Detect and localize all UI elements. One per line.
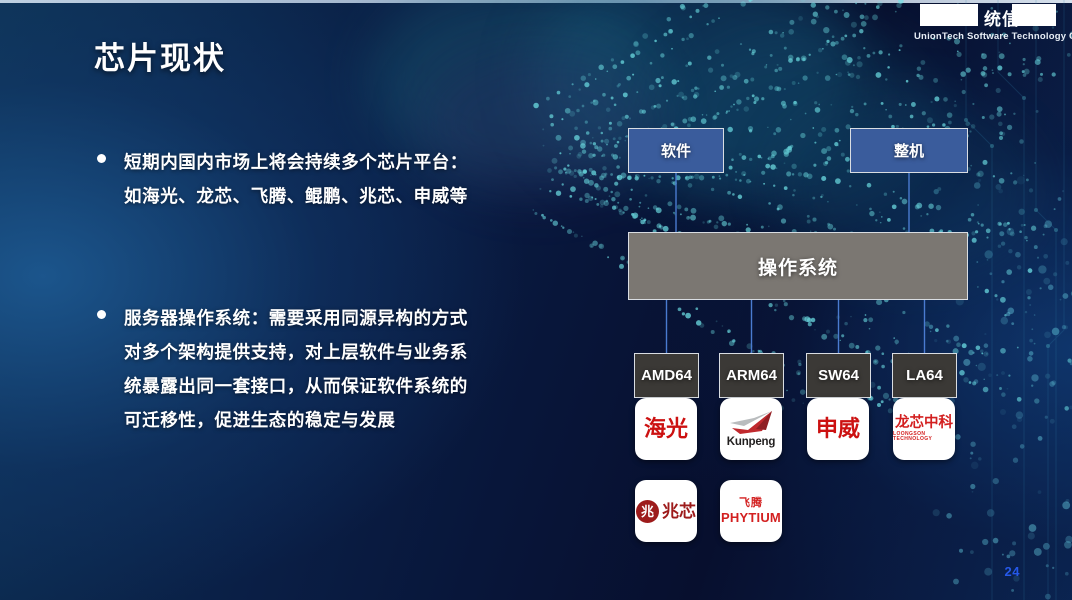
- node-arch-la64[interactable]: LA64: [892, 353, 957, 398]
- node-label: SW64: [818, 367, 859, 384]
- node-label: ARM64: [726, 367, 777, 384]
- vendor-logo-text: Kunpeng: [727, 437, 775, 449]
- vendor-logo-subtext: PHYTIUM: [721, 511, 781, 524]
- brand-name-en: UnionTech Software Technology Co: [914, 31, 1072, 42]
- bullet-dot-icon: [97, 310, 106, 319]
- list-item: 短期内国内市场上将会持续多个芯片平台： 如海光、龙芯、飞腾、鲲鹏、兆芯、申威等: [94, 145, 564, 213]
- node-software[interactable]: 软件: [628, 128, 724, 173]
- node-label: AMD64: [641, 367, 692, 384]
- vendor-logo-sunway[interactable]: 申威: [807, 398, 869, 460]
- node-operating-system[interactable]: 操作系统: [628, 232, 968, 300]
- page-title: 芯片现状: [94, 33, 226, 78]
- vendor-logo-phytium[interactable]: 飞腾 PHYTIUM: [720, 480, 782, 542]
- bullet-dot-icon: [97, 154, 106, 163]
- vendor-logo-text: 兆芯: [662, 503, 696, 520]
- vendor-logo-text: 飞腾: [739, 498, 763, 509]
- vendor-logo-zhaoxin[interactable]: 兆 兆芯: [635, 480, 697, 542]
- architecture-diagram: 软件 整机 操作系统 AMD64 ARM64 SW64 LA64 海光: [628, 128, 968, 548]
- vendor-logo-text: 海光: [644, 418, 688, 440]
- node-label: LA64: [906, 367, 943, 384]
- circuit-lines: [952, 0, 1072, 600]
- kunpeng-wing-icon: [728, 410, 774, 436]
- brand-logo: 统信 UnionTech Software Technology Co: [898, 0, 1072, 46]
- bullet-list: 短期内国内市场上将会持续多个芯片平台： 如海光、龙芯、飞腾、鲲鹏、兆芯、申威等 …: [94, 145, 564, 525]
- node-arch-arm64[interactable]: ARM64: [719, 353, 784, 398]
- vendor-logo-hygon[interactable]: 海光: [635, 398, 697, 460]
- page-number: 24: [1005, 564, 1020, 579]
- brand-name-cn: 统信: [984, 5, 1020, 30]
- node-whole-machine[interactable]: 整机: [850, 128, 968, 173]
- node-label: 操作系统: [758, 253, 838, 280]
- node-label: 整机: [894, 140, 924, 161]
- zhaoxin-emblem-icon: 兆: [636, 500, 659, 523]
- node-label: 软件: [661, 140, 691, 161]
- node-arch-amd64[interactable]: AMD64: [634, 353, 699, 398]
- vendor-logo-loongson[interactable]: 龙芯中科 LOONGSON TECHNOLOGY: [893, 398, 955, 460]
- bullet-text: 短期内国内市场上将会持续多个芯片平台： 如海光、龙芯、飞腾、鲲鹏、兆芯、申威等: [124, 145, 564, 213]
- bullet-text: 服务器操作系统：需要采用同源异构的方式 对多个架构提供支持，对上层软件与业务系 …: [124, 301, 564, 437]
- vendor-logo-subtext: LOONGSON TECHNOLOGY: [893, 432, 955, 442]
- slide-canvas: 芯片现状 短期内国内市场上将会持续多个芯片平台： 如海光、龙芯、飞腾、鲲鹏、兆芯…: [0, 0, 1072, 600]
- vendor-logo-text: 龙芯中科: [895, 416, 953, 431]
- zhaoxin-lockup: 兆 兆芯: [636, 500, 696, 523]
- vendor-logo-kunpeng[interactable]: Kunpeng: [720, 398, 782, 460]
- list-item: 服务器操作系统：需要采用同源异构的方式 对多个架构提供支持，对上层软件与业务系 …: [94, 301, 564, 437]
- node-arch-sw64[interactable]: SW64: [806, 353, 871, 398]
- vendor-logo-text: 申威: [816, 418, 860, 440]
